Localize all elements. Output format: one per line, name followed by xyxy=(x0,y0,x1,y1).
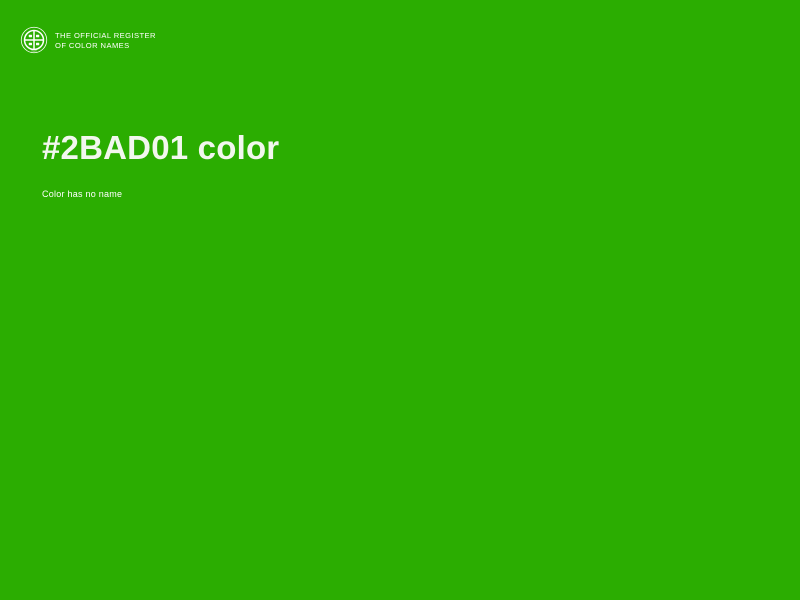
brand-line-1: THE OFFICIAL REGISTER xyxy=(55,31,156,41)
register-seal-icon xyxy=(20,26,48,54)
color-info: #2BAD01 color Color has no name xyxy=(42,128,742,200)
page-title: #2BAD01 color xyxy=(42,128,742,168)
brand-wordmark: THE OFFICIAL REGISTER OF COLOR NAMES xyxy=(55,30,156,50)
color-name-status: Color has no name xyxy=(42,168,742,200)
brand-line-2: OF COLOR NAMES xyxy=(55,41,156,51)
brand-lockup[interactable]: THE OFFICIAL REGISTER OF COLOR NAMES xyxy=(20,26,156,54)
color-page: THE OFFICIAL REGISTER OF COLOR NAMES #2B… xyxy=(0,0,800,600)
